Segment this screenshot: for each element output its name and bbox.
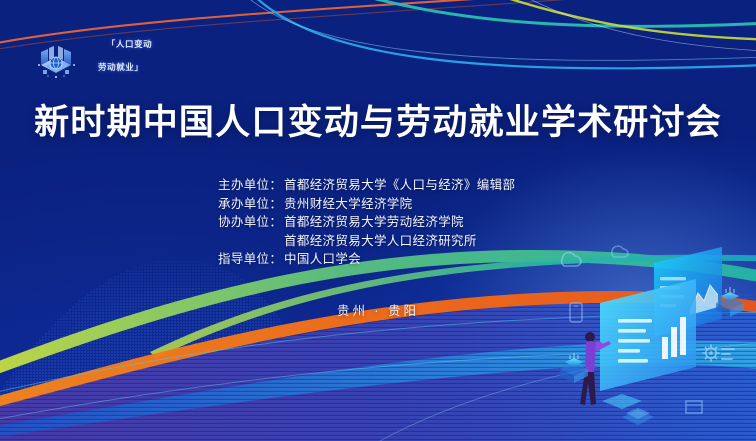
organizer-row: 承办单位： 贵州财经大学经济学院: [218, 195, 538, 214]
organizer-label: 承办单位：: [218, 195, 284, 214]
organizer-value: 贵州财经大学经济学院: [284, 195, 538, 214]
organizer-value: 首都经济贸易大学人口经济研究所: [284, 232, 538, 251]
logo-wordmark-line1: 「人口变动: [107, 39, 153, 49]
organizer-list: 主办单位： 首都经济贸易大学《人口与经济》编辑部 承办单位： 贵州财经大学经济学…: [0, 176, 756, 269]
organizer-value: 首都经济贸易大学劳动经济学院: [284, 213, 538, 232]
organizer-label: 协办单位：: [218, 213, 284, 232]
organizer-row-continuation: 协办单位： 首都经济贸易大学人口经济研究所: [218, 232, 538, 251]
organizer-row: 指导单位： 中国人口学会: [218, 250, 538, 269]
organizer-row: 主办单位： 首都经济贸易大学《人口与经济》编辑部: [218, 176, 538, 195]
conference-logo: 「人口变动 劳动就业」: [30, 27, 152, 96]
organizer-label: 主办单位：: [218, 176, 284, 195]
page-title: 新时期中国人口变动与劳动就业学术研讨会: [0, 101, 756, 145]
conference-emblem-icon: [30, 39, 82, 85]
organizer-value: 中国人口学会: [284, 250, 538, 269]
organizer-row: 协办单位： 首都经济贸易大学劳动经济学院: [218, 213, 538, 232]
location-text: 贵州 · 贵阳: [0, 300, 756, 319]
organizer-value: 首都经济贸易大学《人口与经济》编辑部: [284, 176, 538, 195]
organizer-label: 指导单位：: [218, 250, 284, 269]
logo-wordmark: 「人口变动 劳动就业」: [89, 27, 152, 96]
logo-wordmark-line2: 劳动就业」: [89, 62, 152, 74]
conference-poster: 「人口变动 劳动就业」 新时期中国人口变动与劳动就业学术研讨会 主办单位： 首都…: [0, 0, 756, 441]
